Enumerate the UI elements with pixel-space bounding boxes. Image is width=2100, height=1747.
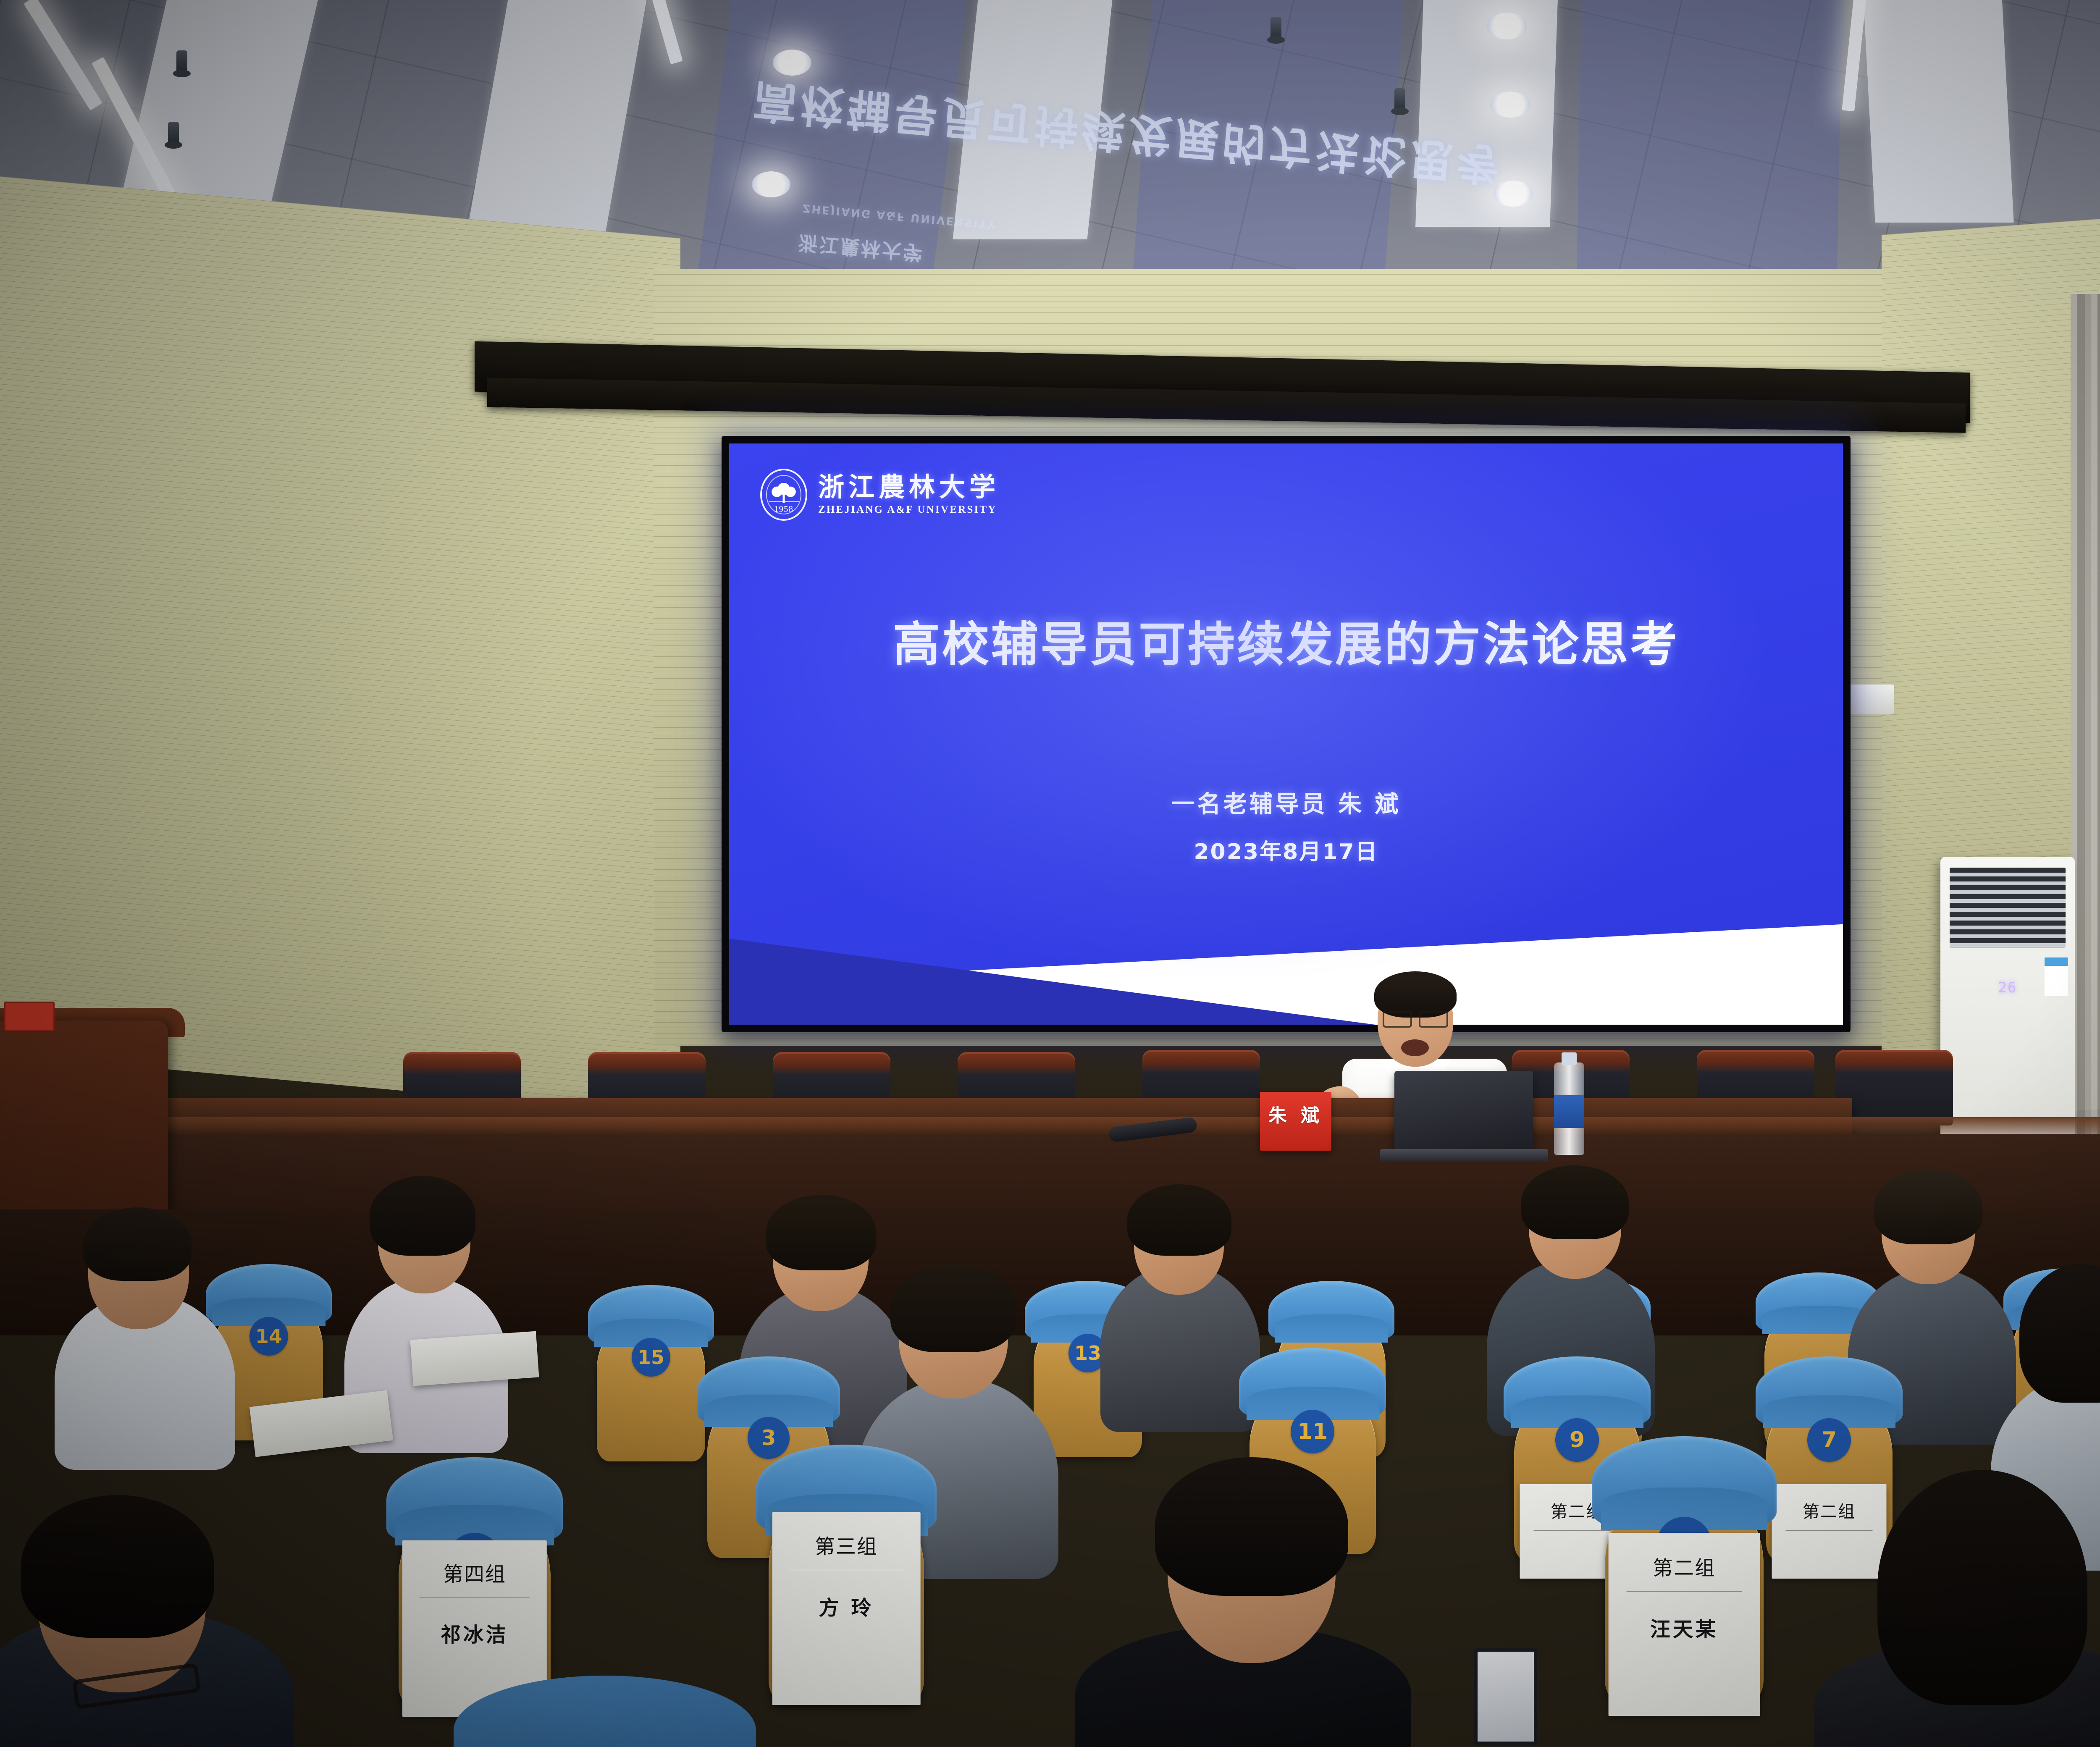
- notebook: [410, 1331, 539, 1386]
- seat[interactable]: 15 第四组 祁冰洁: [386, 1457, 563, 1709]
- speaker-mouth: [1401, 1039, 1429, 1056]
- ceiling-downlight: [773, 50, 811, 76]
- seat-edge: [1275, 1314, 1388, 1343]
- placard-name: 祁冰洁: [441, 1618, 509, 1647]
- emblem-base-line: [769, 501, 799, 502]
- placard-divider: [790, 1570, 903, 1570]
- speaker-nameplate: 朱 斌: [1260, 1092, 1331, 1151]
- seat[interactable]: 7 第二组: [1756, 1356, 1903, 1562]
- university-name-cn: 浙江農林大学: [818, 474, 1000, 500]
- audience-hair-foreground: [1155, 1457, 1348, 1596]
- seat[interactable]: 第三组 方 玲: [756, 1445, 937, 1705]
- speaker-glasses: [1383, 1011, 1448, 1025]
- ceiling-bay-3: [1577, 0, 1842, 277]
- audience-hair: [890, 1264, 1016, 1352]
- slide-subtitle: 一名老辅导员 朱 斌: [729, 785, 1843, 819]
- audience-hair: [1874, 1170, 1982, 1244]
- placard-group: 第三组: [815, 1530, 878, 1559]
- slide-title: 高校辅导员可持续发展的方法论思考: [729, 606, 1843, 674]
- name-placard: 第二组 汪天某: [1609, 1533, 1760, 1716]
- placard-group: 第四组: [443, 1558, 506, 1587]
- placard-divider: [1627, 1591, 1742, 1592]
- slide-date: 2023年8月17日: [729, 834, 1843, 866]
- audience-hair: [1127, 1184, 1231, 1256]
- lecture-hall-photo: 高校辅导员可持续发展的方法论思考 浙江農林大学 ZHEJIANG A&F UNI…: [0, 0, 2100, 1747]
- seat-number-badge: 15: [632, 1338, 670, 1377]
- water-bottle: [1554, 1062, 1584, 1155]
- seat-number-badge: 7: [1807, 1418, 1851, 1462]
- placard-group: 第二组: [1653, 1551, 1716, 1581]
- ceiling-downlight: [1487, 13, 1527, 39]
- seat-number-badge: 11: [1291, 1410, 1334, 1453]
- sprinkler-head: [1270, 17, 1281, 39]
- lectern-sign: [4, 1002, 55, 1031]
- audience-hair: [766, 1195, 876, 1270]
- air-conditioner: 26: [1940, 857, 2075, 1151]
- name-placard: 第二组: [1772, 1484, 1887, 1579]
- placard-name: 方 玲: [819, 1591, 874, 1621]
- audience-hair-foreground: [1877, 1470, 2087, 1705]
- seat[interactable]: 15: [588, 1285, 714, 1461]
- nameplate-text: 朱 斌: [1268, 1100, 1323, 1127]
- stage-chair[interactable]: [1835, 1050, 1953, 1125]
- wall-left: [0, 176, 680, 1116]
- sprinkler-head: [168, 122, 179, 144]
- name-placard: 第三组 方 玲: [772, 1512, 921, 1705]
- ceiling-downlight: [752, 171, 790, 197]
- placard-divider: [1785, 1530, 1872, 1531]
- placard-divider: [420, 1597, 530, 1597]
- ac-grille: [1950, 868, 2066, 947]
- presenter-laptop[interactable]: [1394, 1071, 1533, 1151]
- window-curtain: [2071, 294, 2100, 1159]
- audience-hair: [83, 1207, 192, 1281]
- university-name-en: ZHEJIANG A&F UNIVERSITY: [818, 504, 1000, 516]
- projection-screen-frame: 1958 浙江農林大学 ZHEJIANG A&F UNIVERSITY 高校辅导…: [722, 436, 1851, 1032]
- seat[interactable]: 9 第二组 汪天某: [1592, 1436, 1777, 1705]
- ceiling-light-panel: [1863, 0, 2013, 223]
- ac-temperature-display: 26: [1940, 979, 2075, 996]
- university-emblem-icon: 1958: [760, 469, 807, 521]
- seat-number-badge: 14: [249, 1317, 288, 1356]
- ceiling-downlight: [1490, 92, 1530, 118]
- bottle-label: [1554, 1095, 1584, 1128]
- slide-logo: 1958 浙江農林大学 ZHEJIANG A&F UNIVERSITY: [760, 469, 1000, 521]
- placard-group: 第二组: [1803, 1498, 1856, 1522]
- audience-hair-foreground: [21, 1495, 214, 1638]
- audience-hair: [370, 1176, 475, 1256]
- emblem-year: 1958: [762, 504, 806, 514]
- audience-hair: [1521, 1165, 1629, 1239]
- projection-screen: 1958 浙江農林大学 ZHEJIANG A&F UNIVERSITY 高校辅导…: [729, 443, 1843, 1025]
- sprinkler-head: [1394, 88, 1405, 111]
- placard-name: 汪天某: [1650, 1613, 1718, 1642]
- tablet-device[interactable]: [1474, 1648, 1537, 1745]
- sprinkler-head: [176, 50, 187, 73]
